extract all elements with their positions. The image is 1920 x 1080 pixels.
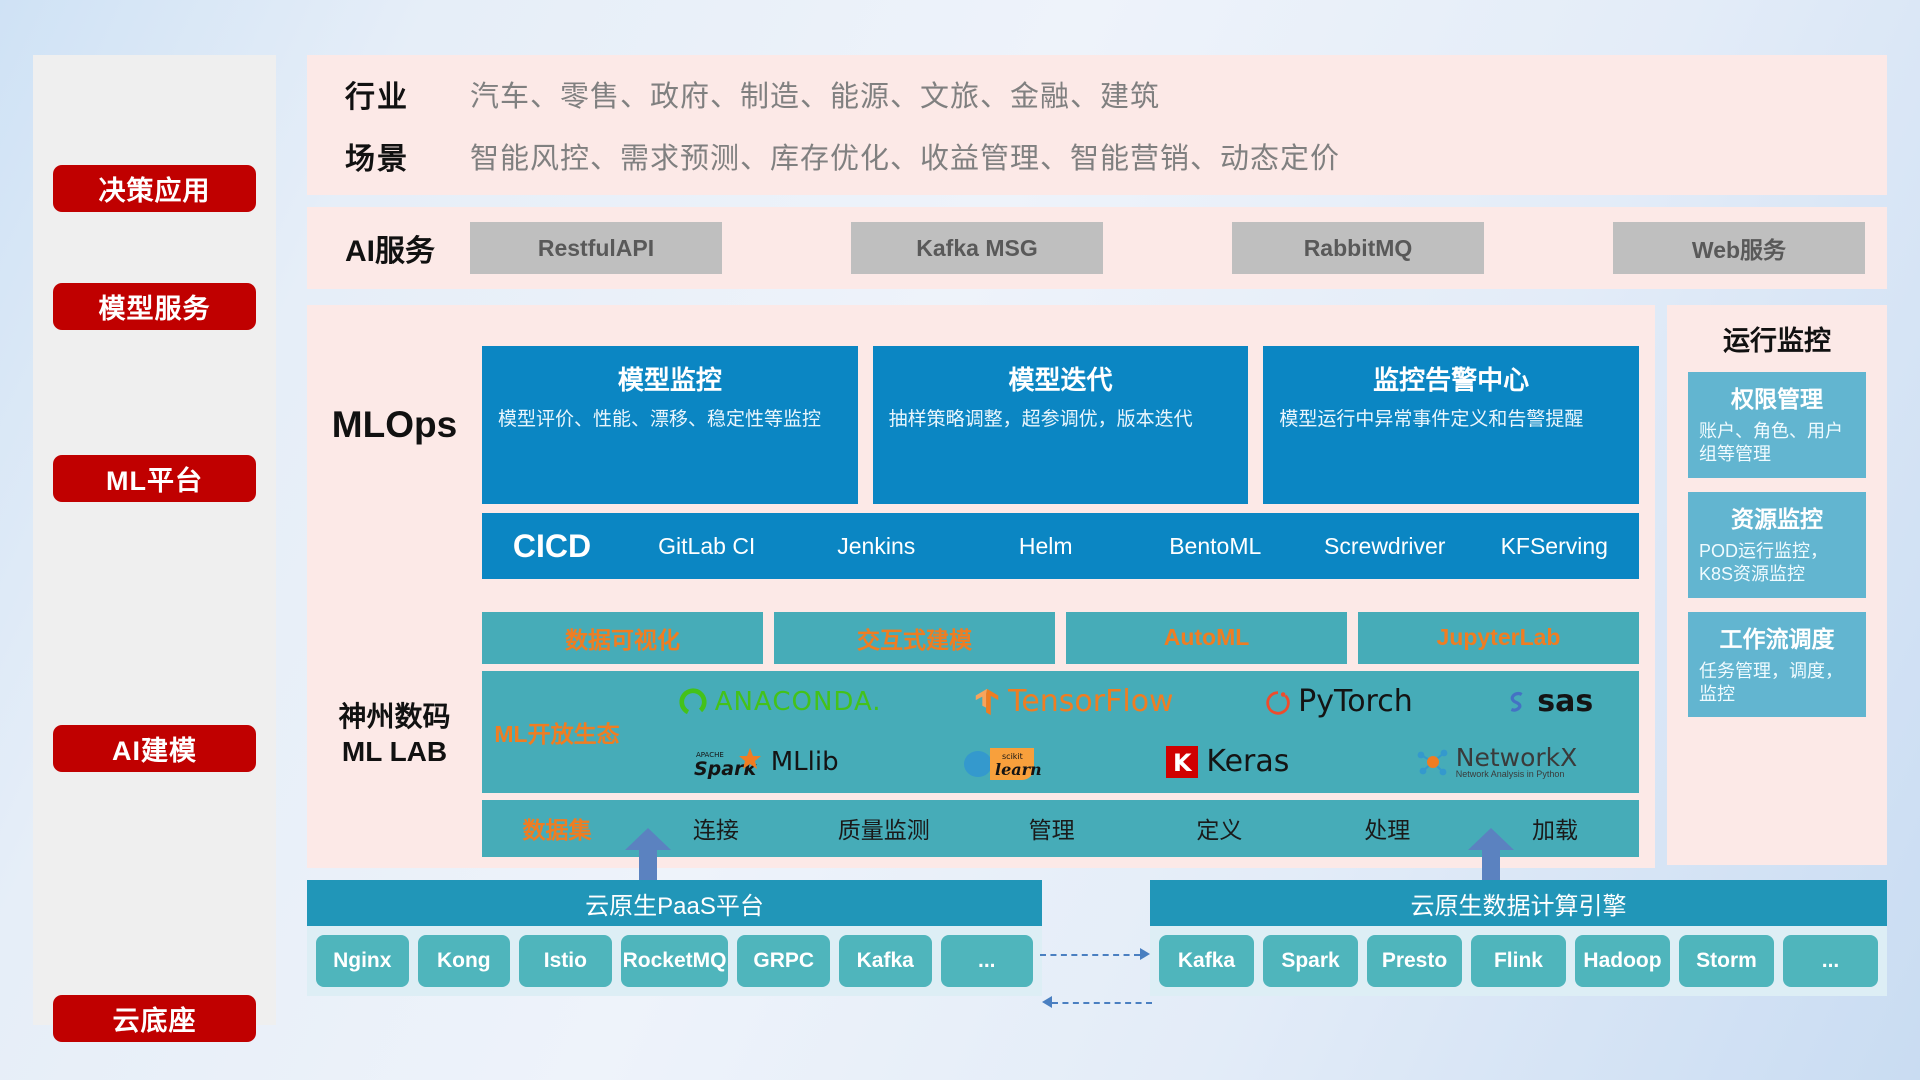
networkx-wordmark: NetworkX xyxy=(1456,745,1578,770)
rail-label: 云底座 xyxy=(113,999,197,1038)
runtime-monitoring-panel: 运行监控 权限管理 账户、角色、用户组等管理 资源监控 POD运行监控，K8S资… xyxy=(1667,305,1887,865)
card-title: 权限管理 xyxy=(1699,380,1855,414)
anaconda-icon xyxy=(678,687,708,717)
chip-more-left[interactable]: ... xyxy=(941,935,1034,987)
mlops-card-alert-center[interactable]: 监控告警中心 模型运行中异常事件定义和告警提醒 xyxy=(1263,346,1639,504)
monitor-card-workflow[interactable]: 工作流调度 任务管理，调度，监控 xyxy=(1688,612,1866,718)
card-desc: 账户、角色、用户组等管理 xyxy=(1699,420,1855,467)
ml-lab-line2: ML LAB xyxy=(307,734,482,769)
dataset-item-quality[interactable]: 质量监测 xyxy=(800,811,968,845)
service-box-rabbitmq[interactable]: RabbitMQ xyxy=(1232,222,1484,274)
chip-flink[interactable]: Flink xyxy=(1471,935,1566,987)
monitor-card-permission[interactable]: 权限管理 账户、角色、用户组等管理 xyxy=(1688,372,1866,478)
arrow-up-icon-left xyxy=(625,828,671,880)
rail-label: 决策应用 xyxy=(99,169,211,208)
ml-ecosystem-row: ML开放生态 ANACONDA. xyxy=(482,671,1639,793)
spark-icon: APACHE Spark xyxy=(694,745,764,779)
networkx-tagline: Network Analysis in Python xyxy=(1456,770,1578,779)
layer-rail: 决策应用 模型服务 ML平台 AI建模 云底座 xyxy=(33,55,276,1025)
cloud-paas-platform: 云原生PaaS平台 Nginx Kong Istio RocketMQ GRPC… xyxy=(307,880,1042,996)
sas-icon xyxy=(1504,687,1530,717)
card-desc: 抽样策略调整，超参调优，版本迭代 xyxy=(889,407,1233,433)
bidirectional-link-icon xyxy=(1040,954,1152,955)
anaconda-wordmark: ANACONDA. xyxy=(715,687,882,717)
scenario-row: 场景 智能风控、需求预测、库存优化、收益管理、智能营销、动态定价 xyxy=(345,134,1340,178)
cicd-item-gitlab-ci[interactable]: GitLab CI xyxy=(622,534,792,558)
feature-jupyterlab[interactable]: JupyterLab xyxy=(1358,612,1639,664)
keras-wordmark: Keras xyxy=(1206,744,1289,779)
cloud-data-compute-engine: 云原生数据计算引擎 Kafka Spark Presto Flink Hadoo… xyxy=(1150,880,1887,996)
rail-item-ai-modeling[interactable]: AI建模 xyxy=(53,725,256,772)
rail-item-decision-app[interactable]: 决策应用 xyxy=(53,165,256,212)
rail-item-model-service[interactable]: 模型服务 xyxy=(53,283,256,330)
chip-hadoop[interactable]: Hadoop xyxy=(1575,935,1670,987)
feature-interactive-modeling[interactable]: 交互式建模 xyxy=(774,612,1055,664)
tensorflow-logo: TensorFlow xyxy=(973,684,1174,719)
cicd-item-bentoml[interactable]: BentoML xyxy=(1131,534,1301,558)
chip-kafka-right[interactable]: Kafka xyxy=(1159,935,1254,987)
ml-ecosystem-label: ML开放生态 xyxy=(482,715,632,749)
service-box-kafka-msg[interactable]: Kafka MSG xyxy=(851,222,1103,274)
monitor-card-resource[interactable]: 资源监控 POD运行监控，K8S资源监控 xyxy=(1688,492,1866,598)
networkx-icon xyxy=(1413,745,1449,779)
dataset-item-define[interactable]: 定义 xyxy=(1135,811,1303,845)
card-desc: 模型评价、性能、漂移、稳定性等监控 xyxy=(498,407,842,433)
rail-item-cloud-base[interactable]: 云底座 xyxy=(53,995,256,1042)
feature-data-visualization[interactable]: 数据可视化 xyxy=(482,612,763,664)
card-desc: 任务管理，调度，监控 xyxy=(1699,660,1855,707)
feature-automl[interactable]: AutoML xyxy=(1066,612,1347,664)
mlops-label: MLOps xyxy=(307,404,482,446)
rail-label: AI建模 xyxy=(112,729,197,768)
cloud-paas-title: 云原生PaaS平台 xyxy=(307,880,1042,926)
cicd-title: CICD xyxy=(482,528,622,565)
sas-logo: sas xyxy=(1504,684,1593,719)
cicd-item-kfserving[interactable]: KFServing xyxy=(1470,534,1640,558)
chip-istio[interactable]: Istio xyxy=(519,935,612,987)
industry-value: 汽车、零售、政府、制造、能源、文旅、金融、建筑 xyxy=(470,73,1160,115)
card-title: 模型监控 xyxy=(498,360,842,397)
card-title: 监控告警中心 xyxy=(1279,360,1623,397)
chip-spark[interactable]: Spark xyxy=(1263,935,1358,987)
keras-icon: K xyxy=(1165,745,1199,779)
rail-item-ml-platform[interactable]: ML平台 xyxy=(53,455,256,502)
chip-kong[interactable]: Kong xyxy=(418,935,511,987)
svg-text:learn: learn xyxy=(995,760,1042,779)
service-box-web[interactable]: Web服务 xyxy=(1613,222,1865,274)
mlops-card-model-monitoring[interactable]: 模型监控 模型评价、性能、漂移、稳定性等监控 xyxy=(482,346,858,504)
card-title: 模型迭代 xyxy=(889,360,1233,397)
scikit-learn-icon: scikit learn xyxy=(962,744,1042,780)
keras-logo: K Keras xyxy=(1165,744,1289,779)
spark-mllib-logo: APACHE Spark MLlib xyxy=(694,745,839,779)
dataset-label: 数据集 xyxy=(482,811,632,845)
chip-grpc[interactable]: GRPC xyxy=(737,935,830,987)
chip-rocketmq[interactable]: RocketMQ xyxy=(621,935,729,987)
rail-label: 模型服务 xyxy=(99,287,211,326)
scenario-value: 智能风控、需求预测、库存优化、收益管理、智能营销、动态定价 xyxy=(470,135,1340,177)
chip-nginx[interactable]: Nginx xyxy=(316,935,409,987)
card-title: 工作流调度 xyxy=(1699,620,1855,654)
card-desc: 模型运行中异常事件定义和告警提醒 xyxy=(1279,407,1623,433)
svg-text:K: K xyxy=(1173,749,1193,777)
cicd-item-jenkins[interactable]: Jenkins xyxy=(792,534,962,558)
tensorflow-wordmark: TensorFlow xyxy=(1008,684,1174,719)
sas-wordmark: sas xyxy=(1537,684,1593,719)
pytorch-icon xyxy=(1265,687,1291,717)
pytorch-wordmark: PyTorch xyxy=(1298,684,1413,719)
industry-row: 行业 汽车、零售、政府、制造、能源、文旅、金融、建筑 xyxy=(345,72,1340,116)
chip-storm[interactable]: Storm xyxy=(1679,935,1774,987)
dataset-item-manage[interactable]: 管理 xyxy=(968,811,1136,845)
chip-kafka[interactable]: Kafka xyxy=(839,935,932,987)
pytorch-logo: PyTorch xyxy=(1265,684,1413,719)
mllib-wordmark: MLlib xyxy=(771,747,839,777)
tensorflow-icon xyxy=(973,687,1001,717)
cloud-engine-title: 云原生数据计算引擎 xyxy=(1150,880,1887,926)
dataset-item-process[interactable]: 处理 xyxy=(1303,811,1471,845)
industry-key: 行业 xyxy=(345,72,470,116)
bidirectional-link-icon-2 xyxy=(1040,1002,1152,1003)
chip-presto[interactable]: Presto xyxy=(1367,935,1462,987)
ml-lab-line1: 神州数码 xyxy=(307,699,482,734)
service-box-restfulapi[interactable]: RestfulAPI xyxy=(470,222,722,274)
rail-label: ML平台 xyxy=(106,459,203,498)
ai-service-band: AI服务 RestfulAPI Kafka MSG RabbitMQ Web服务 xyxy=(307,207,1887,289)
ml-lab-label: 神州数码 ML LAB xyxy=(307,699,482,769)
mlops-card-model-iteration[interactable]: 模型迭代 抽样策略调整，超参调优，版本迭代 xyxy=(873,346,1249,504)
diagram-canvas: 决策应用 模型服务 ML平台 AI建模 云底座 行业 汽车、零售、政府、制造、能… xyxy=(0,0,1920,1080)
arrow-up-icon-right xyxy=(1468,828,1514,880)
chip-more-right[interactable]: ... xyxy=(1783,935,1878,987)
ai-modeling-band: 神州数码 ML LAB 数据可视化 交互式建模 AutoML JupyterLa… xyxy=(307,600,1655,868)
industry-scenario-band: 行业 汽车、零售、政府、制造、能源、文旅、金融、建筑 场景 智能风控、需求预测、… xyxy=(307,55,1887,195)
networkx-logo: NetworkX Network Analysis in Python xyxy=(1413,745,1578,779)
card-desc: POD运行监控，K8S资源监控 xyxy=(1699,540,1855,587)
card-title: 资源监控 xyxy=(1699,500,1855,534)
cicd-bar: CICD GitLab CI Jenkins Helm BentoML Scre… xyxy=(482,513,1639,579)
cicd-item-screwdriver[interactable]: Screwdriver xyxy=(1300,534,1470,558)
anaconda-logo: ANACONDA. xyxy=(678,687,882,717)
cicd-item-helm[interactable]: Helm xyxy=(961,534,1131,558)
ai-service-label: AI服务 xyxy=(345,226,470,270)
scenario-key: 场景 xyxy=(345,134,470,178)
monitoring-title: 运行监控 xyxy=(1723,319,1831,358)
scikit-learn-logo: scikit learn xyxy=(962,744,1042,780)
